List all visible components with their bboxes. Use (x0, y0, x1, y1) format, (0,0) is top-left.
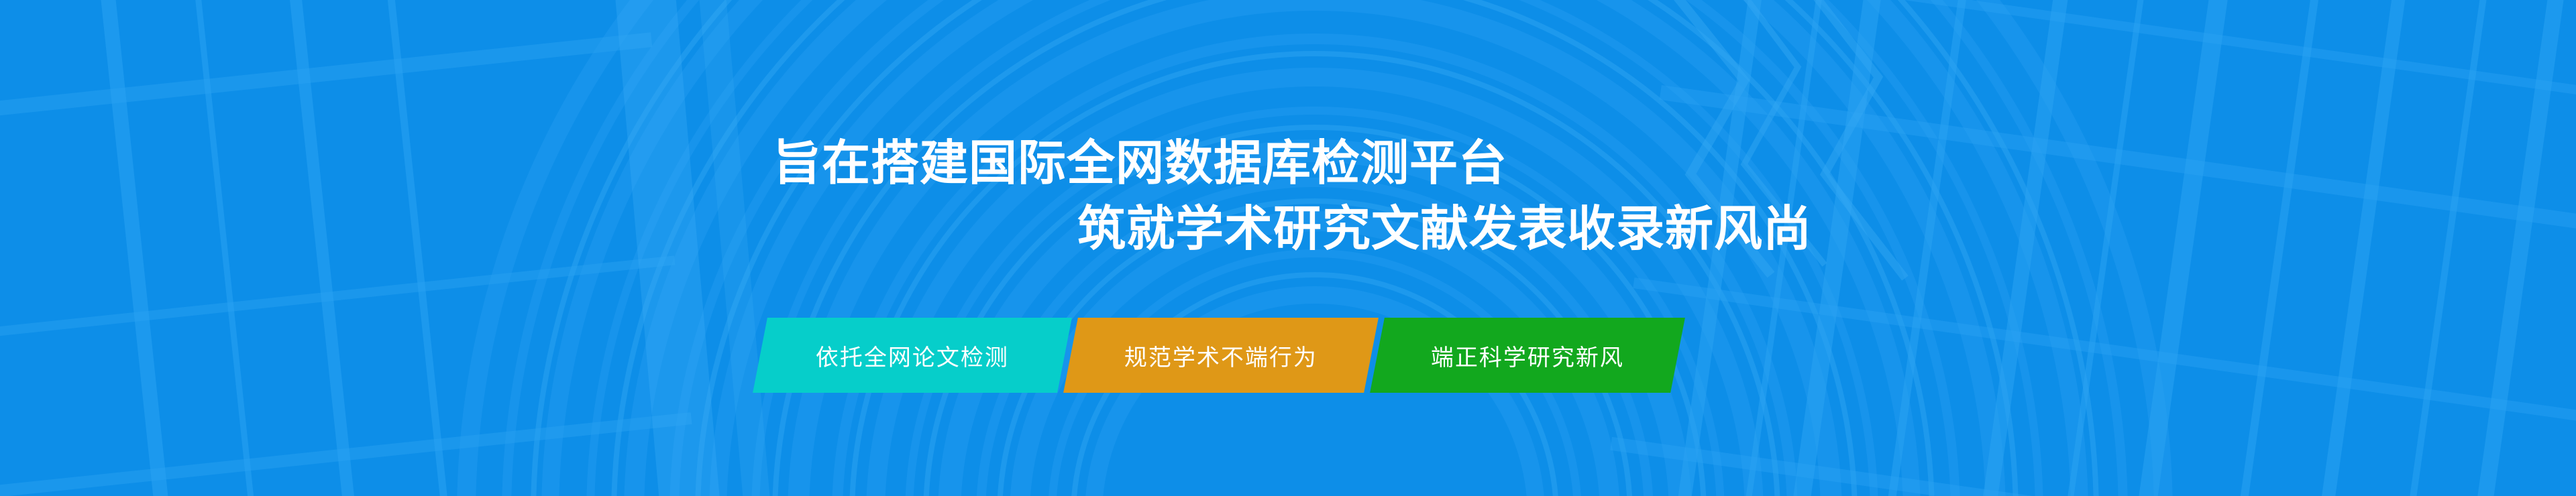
feature-tag-2[interactable]: 规范学术不端行为 (1063, 318, 1379, 393)
feature-tag-1[interactable]: 依托全网论文检测 (753, 318, 1072, 393)
headline-line-1: 旨在搭建国际全网数据库检测平台 (0, 131, 2576, 196)
feature-tag-strip: 依托全网论文检测 规范学术不端行为 端正科学研究新风 (760, 318, 1678, 393)
headline: 旨在搭建国际全网数据库检测平台 筑就学术研究文献发表收录新风尚 (0, 131, 2576, 262)
headline-line-2: 筑就学术研究文献发表收录新风尚 (0, 196, 2576, 262)
feature-tag-1-label: 依托全网论文检测 (816, 339, 1009, 372)
feature-tag-3-label: 端正科学研究新风 (1431, 339, 1624, 372)
feature-tag-3[interactable]: 端正科学研究新风 (1370, 318, 1685, 393)
feature-tag-2-label: 规范学术不端行为 (1124, 339, 1318, 372)
hero-banner: 旨在搭建国际全网数据库检测平台 筑就学术研究文献发表收录新风尚 依托全网论文检测… (0, 0, 2576, 496)
